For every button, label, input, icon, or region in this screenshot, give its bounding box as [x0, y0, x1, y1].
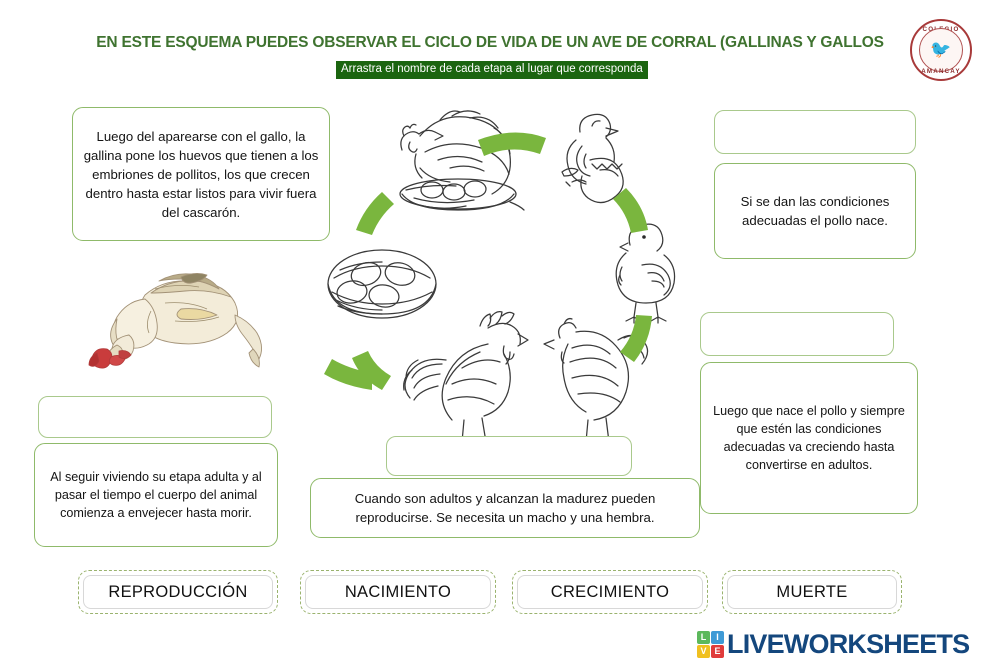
- maturity-description-card: Cuando son adultos y alcanzan la madurez…: [310, 478, 700, 538]
- dropzone-death[interactable]: [38, 396, 272, 438]
- logo-letter-l: L: [697, 631, 710, 644]
- liveworksheets-wordmark: LIVEWORKSHEETS: [727, 631, 969, 658]
- life-cycle-diagram: [320, 100, 700, 460]
- logo-letter-v: V: [697, 645, 710, 658]
- dropzone-maturity[interactable]: [386, 436, 632, 476]
- card-text: Si se dan las condiciones adecuadas el p…: [724, 192, 906, 230]
- tile-reproduccion[interactable]: REPRODUCCIÓN: [78, 570, 278, 614]
- bird-emblem-icon: 🐦: [929, 40, 953, 60]
- death-description-card: Al seguir viviendo su etapa adulta y al …: [34, 443, 278, 547]
- cycle-arrows: [324, 132, 652, 390]
- liveworksheets-logo: L I V E LIVEWORKSHEETS: [697, 629, 969, 659]
- tile-crecimiento[interactable]: CRECIMIENTO: [512, 570, 708, 614]
- card-text: Al seguir viviendo su etapa adulta y al …: [44, 468, 268, 522]
- card-text: Luego que nace el pollo y siempre que es…: [710, 402, 908, 474]
- instruction-banner: Arrastra el nombre de cada etapa al luga…: [336, 61, 648, 79]
- page-title: EN ESTE ESQUEMA PUEDES OBSERVAR EL CICLO…: [60, 34, 920, 52]
- worksheet-page: EN ESTE ESQUEMA PUEDES OBSERVAR EL CICLO…: [0, 0, 1000, 666]
- dead-chicken-icon: [85, 253, 275, 373]
- logo-letter-e: E: [711, 645, 724, 658]
- reproduction-description-card: Luego del aparearse con el gallo, la gal…: [72, 107, 330, 241]
- birth-description-card: Si se dan las condiciones adecuadas el p…: [714, 163, 916, 259]
- tile-label[interactable]: REPRODUCCIÓN: [83, 575, 273, 609]
- logo-letter-i: I: [711, 631, 724, 644]
- school-logo-bottom-text: AMANCAY: [912, 68, 970, 75]
- card-text: Luego del aparearse con el gallo, la gal…: [82, 127, 320, 222]
- tile-label[interactable]: CRECIMIENTO: [517, 575, 703, 609]
- tile-label[interactable]: MUERTE: [727, 575, 897, 609]
- tile-muerte[interactable]: MUERTE: [722, 570, 902, 614]
- tile-label[interactable]: NACIMIENTO: [305, 575, 491, 609]
- growth-description-card: Luego que nace el pollo y siempre que es…: [700, 362, 918, 514]
- dropzone-birth[interactable]: [714, 110, 916, 154]
- liveworksheets-logo-grid: L I V E: [697, 631, 724, 658]
- card-text: Cuando son adultos y alcanzan la madurez…: [320, 489, 690, 527]
- school-logo: COLEGIO 🐦 AMANCAY: [910, 19, 972, 81]
- dropzone-growth[interactable]: [700, 312, 894, 356]
- tile-nacimiento[interactable]: NACIMIENTO: [300, 570, 496, 614]
